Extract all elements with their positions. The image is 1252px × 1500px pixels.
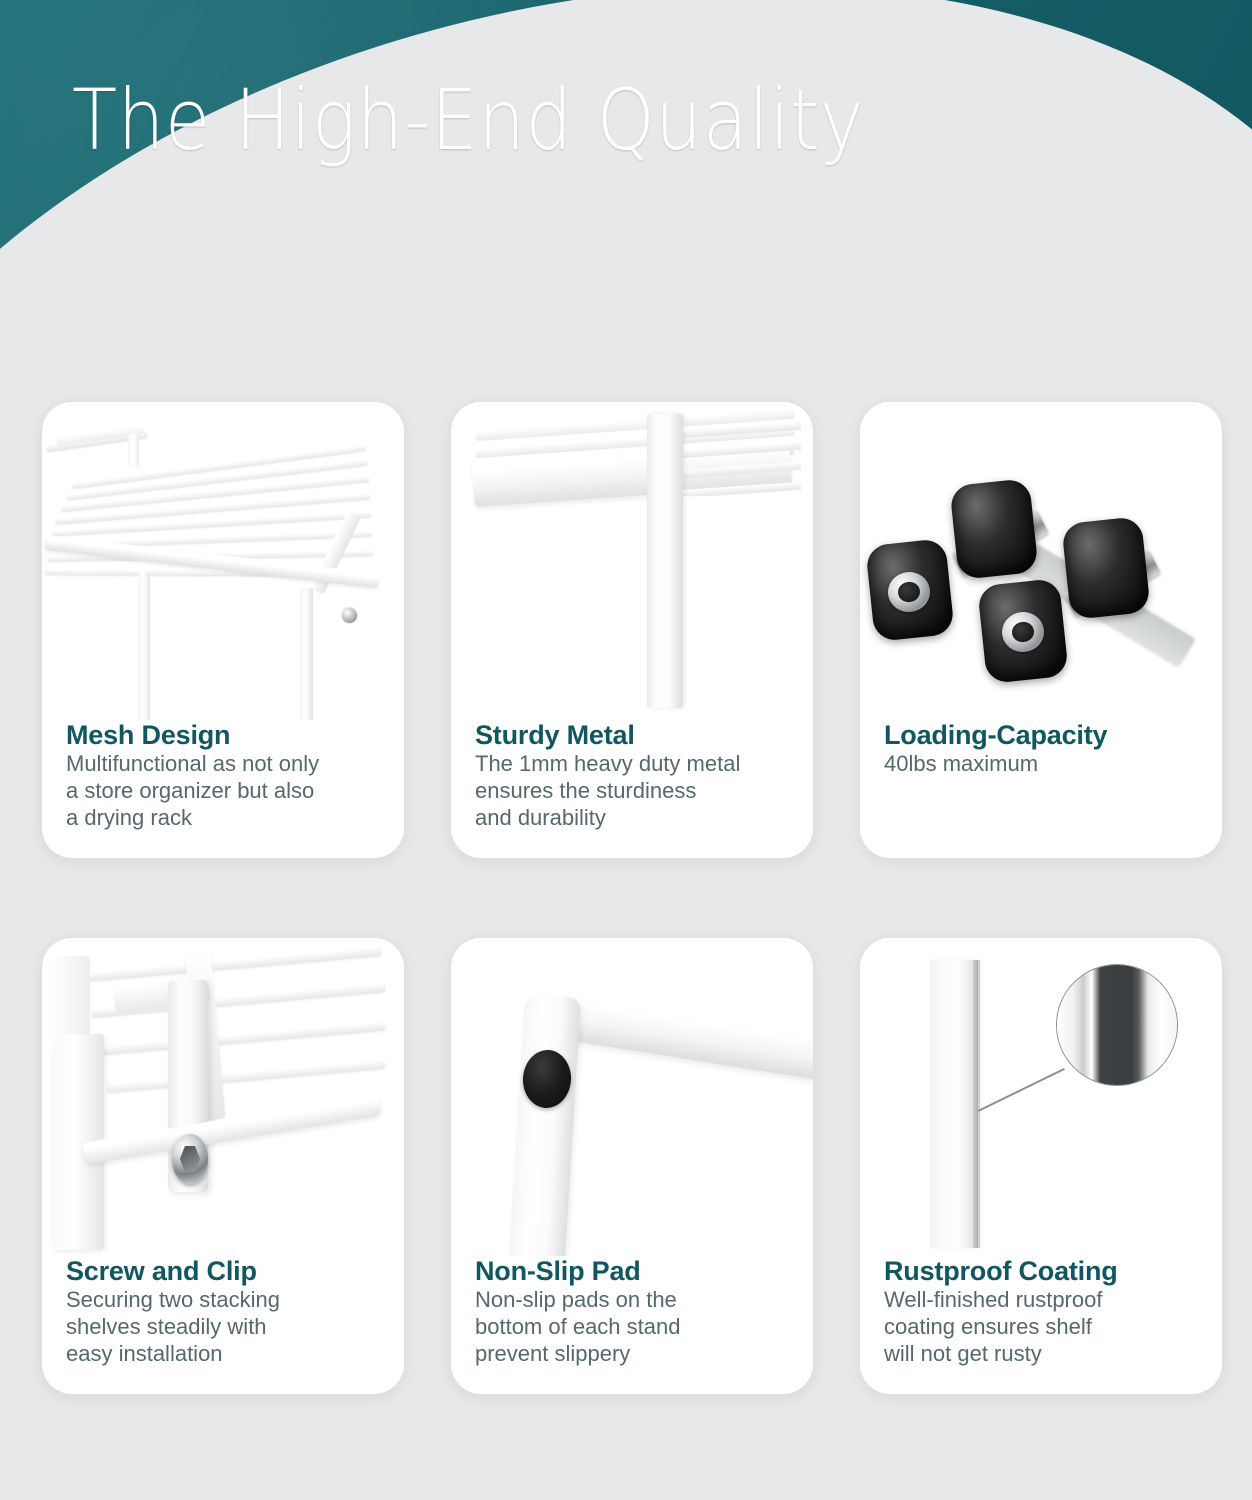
shelf-leg-right (300, 588, 313, 720)
hex-screw-icon (172, 1134, 208, 1184)
feature-card-sturdy-metal: Sturdy Metal The 1mm heavy duty metal en… (451, 402, 813, 858)
card-title: Loading-Capacity (884, 720, 1200, 750)
card-body: 40lbs maximum (884, 751, 1200, 778)
dumbbell-head-back-right (949, 478, 1038, 580)
feature-card-non-slip-pad: Non-Slip Pad Non-slip pads on the bottom… (451, 938, 813, 1394)
dumbbell-head-front-right (1061, 516, 1151, 620)
card-body: Securing two stacking shelves steadily w… (66, 1287, 382, 1367)
feature-card-screw-and-clip: Screw and Clip Securing two stacking she… (42, 938, 404, 1394)
shelf-left-edge (50, 956, 90, 1042)
shelf-post-edge (973, 960, 978, 1248)
feature-card-grid: Mesh Design Multifunctional as not only … (42, 402, 1222, 1394)
card-title: Rustproof Coating (884, 1256, 1200, 1286)
non-slip-pad-photo (451, 938, 813, 1256)
card-title: Non-Slip Pad (475, 1256, 791, 1286)
card-text-block: Non-Slip Pad Non-slip pads on the bottom… (451, 1256, 813, 1368)
shelf-leg-left (138, 572, 150, 720)
shelf-vertical-post (647, 414, 683, 708)
card-text-block: Mesh Design Multifunctional as not only … (42, 720, 404, 832)
magnifier-circle-icon (1056, 964, 1178, 1086)
product-feature-infographic: The High-End Quality (0, 0, 1252, 1500)
magnifier-leader-line (978, 1068, 1065, 1111)
card-text-block: Screw and Clip Securing two stacking she… (42, 1256, 404, 1368)
feature-card-mesh-design: Mesh Design Multifunctional as not only … (42, 402, 404, 858)
card-body: Multifunctional as not only a store orga… (66, 751, 382, 831)
card-title: Sturdy Metal (475, 720, 791, 750)
card-title: Mesh Design (66, 720, 382, 750)
feature-card-loading-capacity: Loading-Capacity 40lbs maximum (860, 402, 1222, 858)
page-title: The High-End Quality (72, 78, 864, 162)
card-text-block: Sturdy Metal The 1mm heavy duty metal en… (451, 720, 813, 832)
shelf-corner-closeup-photo (451, 402, 813, 720)
shelf-screw (342, 608, 357, 623)
card-body: Well-finished rustproof coating ensures … (884, 1287, 1200, 1367)
card-text-block: Loading-Capacity 40lbs maximum (860, 720, 1222, 778)
shelf-front-rail (82, 1093, 382, 1164)
rustproof-coating-photo (860, 938, 1222, 1256)
shelf-horizontal-bar (552, 998, 813, 1079)
screw-and-clip-photo (42, 938, 404, 1256)
dumbbells-photo (860, 402, 1222, 720)
coating-cross-section (1057, 965, 1177, 1085)
card-body: The 1mm heavy duty metal ensures the stu… (475, 751, 791, 831)
mesh-shelf-photo (42, 402, 404, 720)
card-text-block: Rustproof Coating Well-finished rustproo… (860, 1256, 1222, 1368)
card-title: Screw and Clip (66, 1256, 382, 1286)
card-body: Non-slip pads on the bottom of each stan… (475, 1287, 791, 1367)
shelf-leg (509, 995, 581, 1256)
feature-card-rustproof-coating: Rustproof Coating Well-finished rustproo… (860, 938, 1222, 1394)
shelf-rungs (681, 416, 801, 496)
